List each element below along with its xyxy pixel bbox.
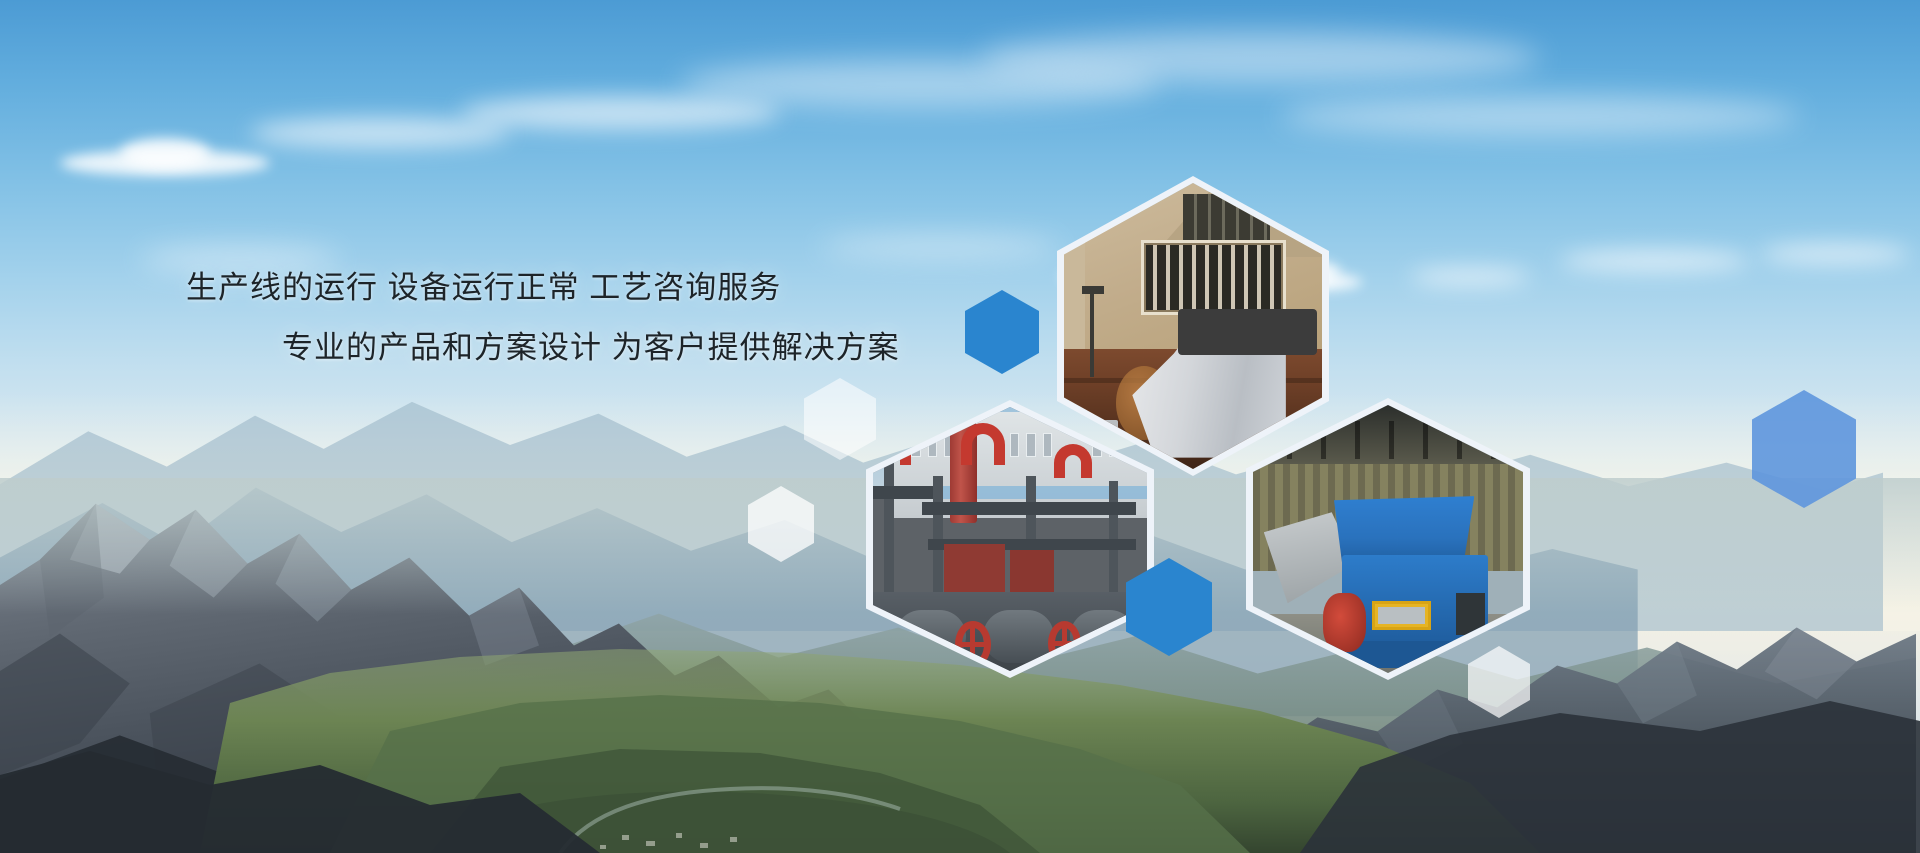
headline-block: 生产线的运行 设备运行正常 工艺咨询服务 专业的产品和方案设计 为客户提供解决方…	[186, 258, 946, 378]
headline-line-2: 专业的产品和方案设计 为客户提供解决方案	[186, 318, 946, 378]
hex-photo-vessel-image	[1064, 183, 1322, 469]
hex-photo-blue-image	[1253, 405, 1523, 673]
hero-banner: 生产线的运行 设备运行正常 工艺咨询服务 专业的产品和方案设计 为客户提供解决方…	[0, 0, 1920, 853]
hex-photo-press-image	[873, 407, 1147, 671]
headline-line-1: 生产线的运行 设备运行正常 工艺咨询服务	[186, 258, 946, 318]
